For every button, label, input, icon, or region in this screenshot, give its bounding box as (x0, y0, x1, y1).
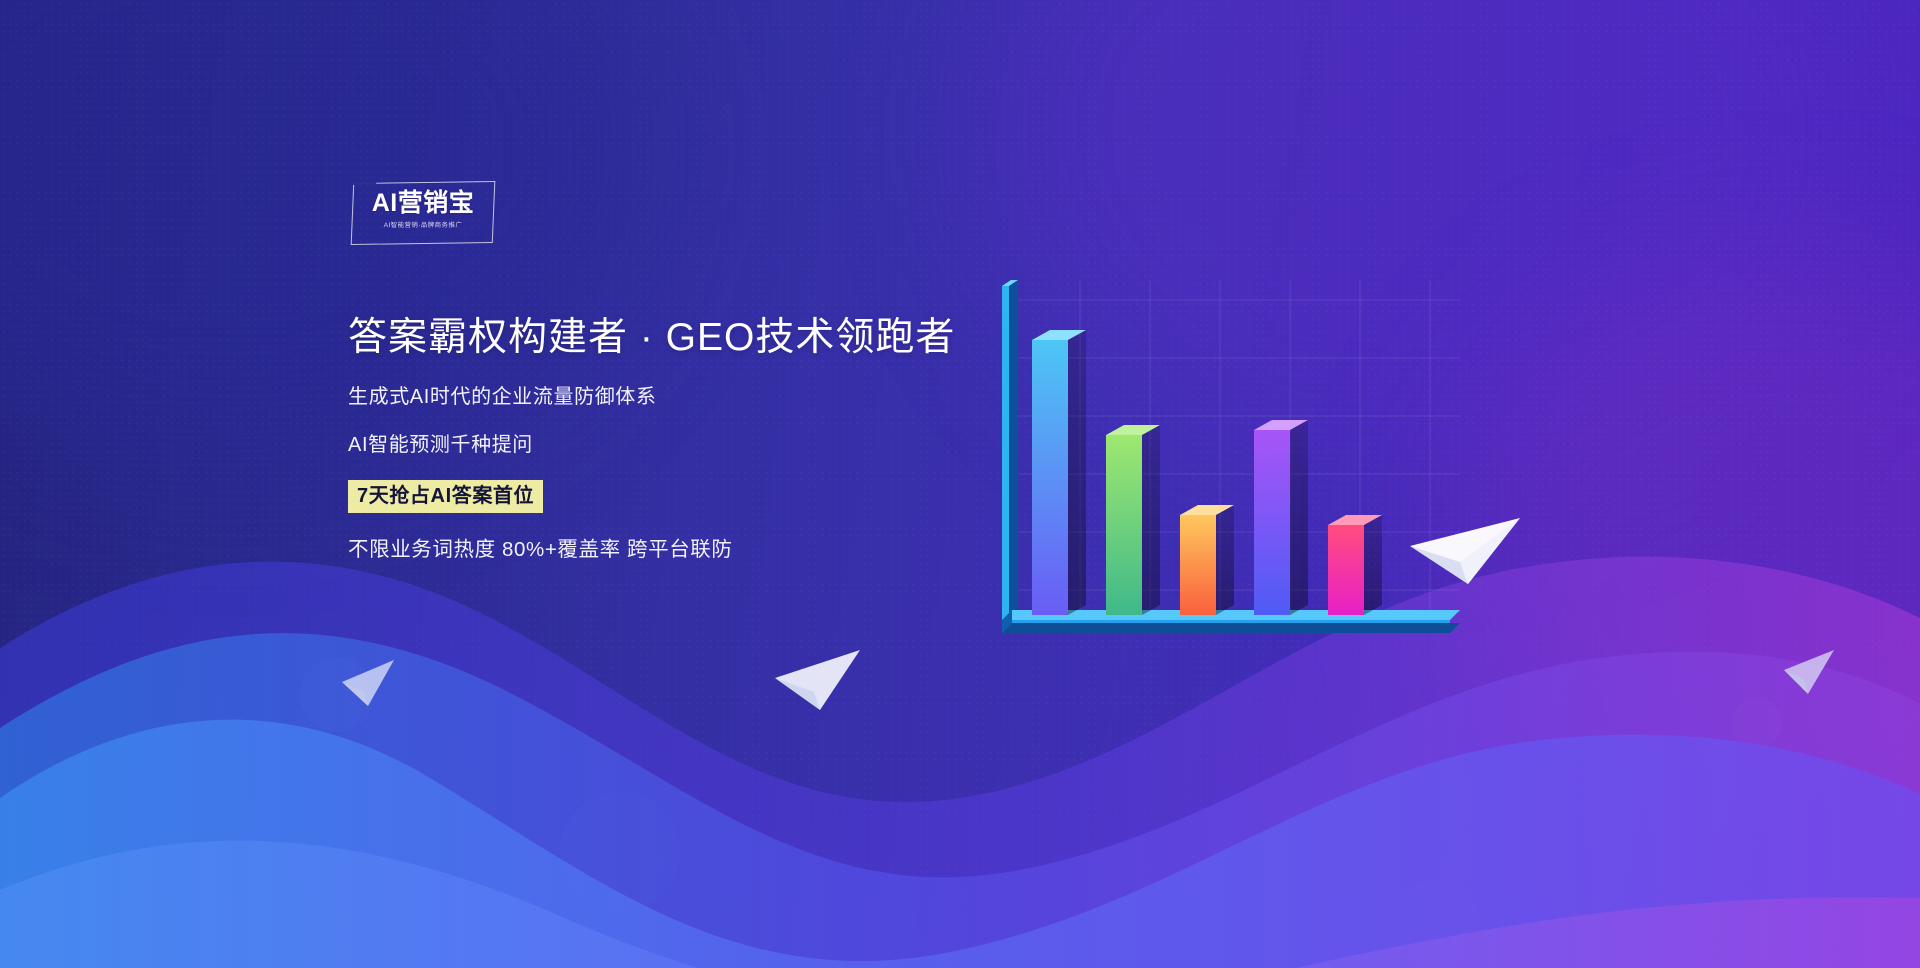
chart-bar (1106, 425, 1160, 615)
paper-plane-icon (772, 648, 864, 718)
hero-copy: 答案霸权构建者 · GEO技术领跑者 生成式AI时代的企业流量防御体系 AI智能… (348, 315, 1048, 561)
brand-logo[interactable]: AI营销宝 AI智能营销·品牌商务推广 (352, 182, 494, 244)
chart-bar (1180, 505, 1234, 615)
logo-tagline: AI智能营销·品牌商务推广 (352, 223, 494, 229)
hero-highlight-wrap: 7天抢占AI答案首位 (348, 480, 1048, 513)
chart-bar (1254, 420, 1308, 615)
page-title: 答案霸权构建者 · GEO技术领跑者 (348, 315, 1048, 361)
logo-wordmark: AI营销宝 (352, 191, 494, 216)
hero-subtitle-3: 不限业务词热度 80%+覆盖率 跨平台联防 (348, 540, 1048, 561)
bar-chart (960, 280, 1480, 680)
hero-banner: AI营销宝 AI智能营销·品牌商务推广 答案霸权构建者 · GEO技术领跑者 生… (0, 0, 1920, 968)
paper-plane-icon (1782, 648, 1838, 698)
chart-bar (1032, 330, 1086, 615)
chart-bar (1328, 515, 1382, 615)
hero-subtitle-1: 生成式AI时代的企业流量防御体系 (348, 387, 1048, 407)
hero-highlight-badge: 7天抢占AI答案首位 (348, 480, 543, 513)
hero-subtitle-2: AI智能预测千种提问 (348, 435, 1048, 455)
paper-plane-icon (340, 658, 398, 710)
chart-y-axis (1002, 280, 1018, 620)
